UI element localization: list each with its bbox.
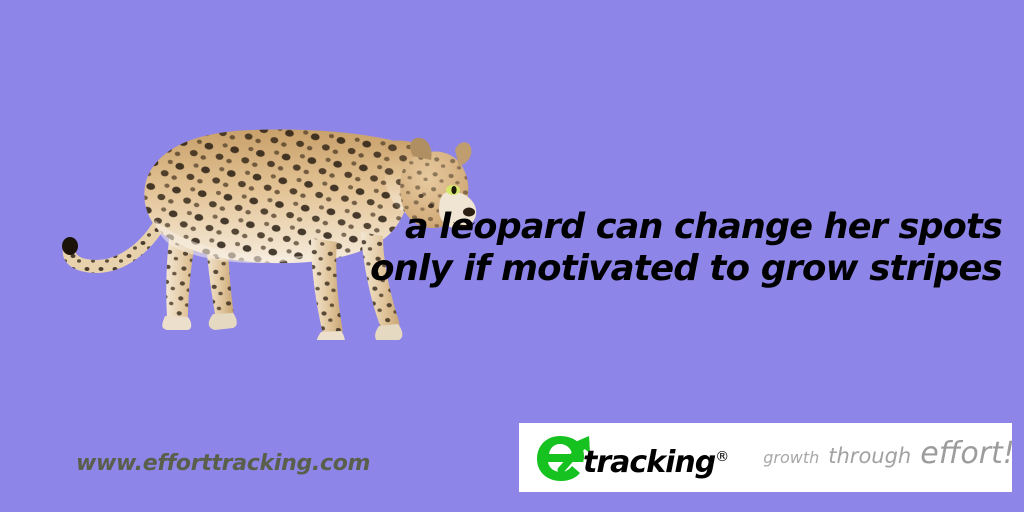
logo-panel[interactable]: tracking® growth through effort! — [519, 423, 1012, 492]
tagline-word-growth: growth — [763, 448, 819, 467]
logo-tagline: growth through effort! — [763, 436, 1012, 471]
leopard-photo — [55, 70, 485, 340]
poster-canvas: a leopard can change her spots only if m… — [0, 0, 1024, 512]
logo-wordmark: tracking® — [583, 445, 729, 480]
quote-line-2: only if motivated to grow stripes — [0, 248, 1002, 290]
website-url[interactable]: www.efforttracking.com — [76, 451, 370, 476]
logo-wordmark-text: tracking — [583, 445, 715, 480]
quote-text: a leopard can change her spots only if m… — [0, 206, 1002, 290]
tagline-word-effort: effort! — [920, 436, 1012, 471]
tagline-word-through: through — [828, 444, 911, 468]
logo-lockup: tracking® — [531, 423, 729, 492]
quote-line-1: a leopard can change her spots — [0, 206, 1002, 248]
registered-trademark-icon: ® — [715, 449, 729, 465]
